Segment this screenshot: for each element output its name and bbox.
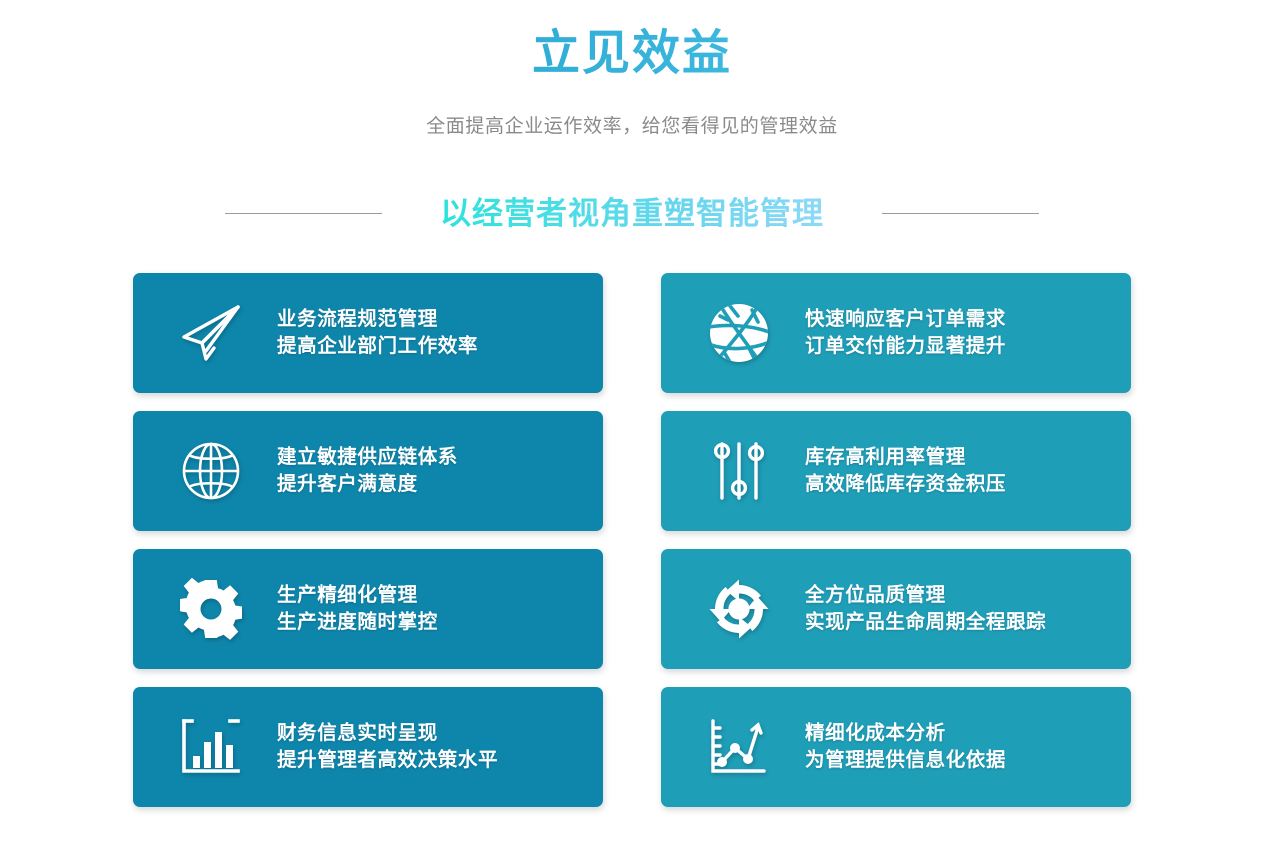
- benefit-card-text: 建立敏捷供应链体系 提升客户满意度: [277, 444, 458, 498]
- page-title: 立见效益: [0, 26, 1264, 83]
- benefit-card-text: 全方位品质管理 实现产品生命周期全程跟踪: [805, 582, 1046, 636]
- divider-left: [225, 213, 382, 214]
- benefit-card-grid: 业务流程规范管理 提高企业部门工作效率: [133, 273, 1131, 807]
- globe-wireframe-icon: [175, 435, 247, 507]
- benefit-line-2: 提升管理者高效决策水平: [277, 747, 498, 774]
- network-globe-icon: [703, 297, 775, 369]
- benefit-card-text: 快速响应客户订单需求 订单交付能力显著提升: [805, 306, 1006, 360]
- benefit-line-2: 提升客户满意度: [277, 471, 458, 498]
- divider-right: [882, 213, 1039, 214]
- benefit-card[interactable]: 全方位品质管理 实现产品生命周期全程跟踪: [661, 549, 1131, 669]
- benefit-line-2: 生产进度随时掌控: [277, 609, 438, 636]
- section-heading: 以经营者视角重塑智能管理: [0, 195, 1264, 232]
- benefit-line-1: 业务流程规范管理: [277, 308, 438, 330]
- benefit-line-1: 全方位品质管理: [805, 584, 946, 606]
- benefit-card-text: 精细化成本分析 为管理提供信息化依据: [805, 720, 1006, 774]
- benefit-line-1: 建立敏捷供应链体系: [277, 446, 458, 468]
- benefit-card[interactable]: 生产精细化管理 生产进度随时掌控: [133, 549, 603, 669]
- benefit-card-text: 财务信息实时呈现 提升管理者高效决策水平: [277, 720, 498, 774]
- paper-plane-icon: [175, 297, 247, 369]
- benefit-line-2: 订单交付能力显著提升: [805, 333, 1006, 360]
- hero-section: 立见效益 全面提高企业运作效率，给您看得见的管理效益: [0, 0, 1264, 138]
- benefit-card[interactable]: 精细化成本分析 为管理提供信息化依据: [661, 687, 1131, 807]
- sliders-icon: [703, 435, 775, 507]
- benefit-card[interactable]: 业务流程规范管理 提高企业部门工作效率: [133, 273, 603, 393]
- gear-icon: [175, 573, 247, 645]
- bar-chart-icon: [175, 711, 247, 783]
- benefit-card-text: 生产精细化管理 生产进度随时掌控: [277, 582, 438, 636]
- line-chart-icon: [703, 711, 775, 783]
- benefit-card[interactable]: 建立敏捷供应链体系 提升客户满意度: [133, 411, 603, 531]
- benefit-card-text: 业务流程规范管理 提高企业部门工作效率: [277, 306, 478, 360]
- benefit-line-1: 生产精细化管理: [277, 584, 418, 606]
- benefits-page: 立见效益 全面提高企业运作效率，给您看得见的管理效益 以经营者视角重塑智能管理 …: [0, 0, 1264, 859]
- benefit-line-2: 实现产品生命周期全程跟踪: [805, 609, 1046, 636]
- benefit-card[interactable]: 财务信息实时呈现 提升管理者高效决策水平: [133, 687, 603, 807]
- benefit-line-1: 精细化成本分析: [805, 722, 946, 744]
- benefit-card[interactable]: 库存高利用率管理 高效降低库存资金积压: [661, 411, 1131, 531]
- benefit-line-2: 为管理提供信息化依据: [805, 747, 1006, 774]
- section-title: 以经营者视角重塑智能管理: [440, 195, 824, 232]
- page-subtitle: 全面提高企业运作效率，给您看得见的管理效益: [0, 83, 1264, 138]
- benefit-card-text: 库存高利用率管理 高效降低库存资金积压: [805, 444, 1006, 498]
- benefit-line-1: 库存高利用率管理: [805, 446, 966, 468]
- benefit-line-2: 提高企业部门工作效率: [277, 333, 478, 360]
- benefit-line-1: 快速响应客户订单需求: [805, 308, 1006, 330]
- benefit-line-1: 财务信息实时呈现: [277, 722, 438, 744]
- benefit-line-2: 高效降低库存资金积压: [805, 471, 1006, 498]
- benefit-card[interactable]: 快速响应客户订单需求 订单交付能力显著提升: [661, 273, 1131, 393]
- cycle-arrows-icon: [703, 573, 775, 645]
